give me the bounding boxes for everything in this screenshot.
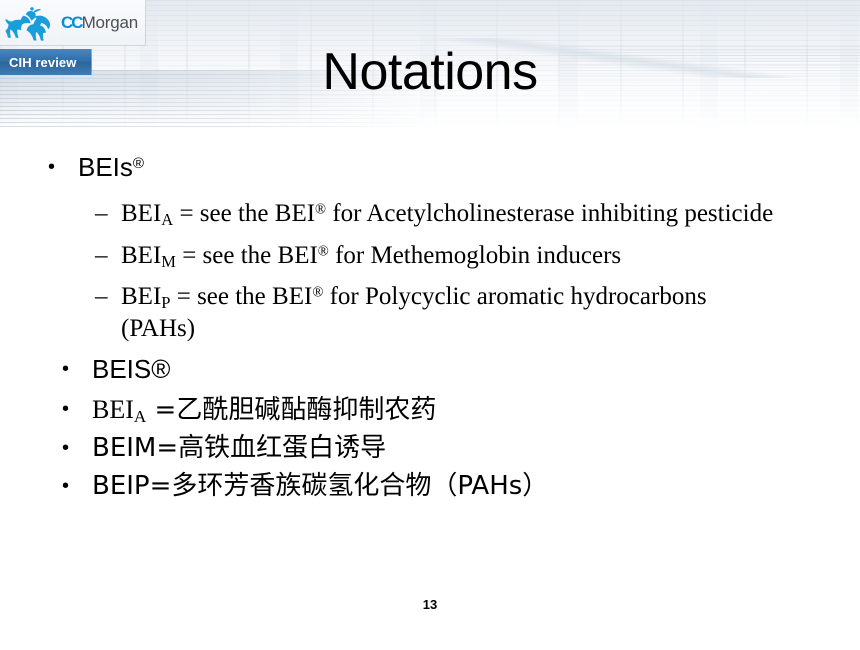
list-item: – BEIM = see the BEI® for Methemoglobin … <box>0 240 860 272</box>
item-prefix: BEI <box>121 200 161 227</box>
list-item-label: BEIA =乙酰胆碱酟酶抑制农药 <box>92 394 860 427</box>
item-mid: = see the BEI <box>173 200 315 227</box>
list-item: • BEIP=多环芳香族碳氢化合物（PAHs） <box>0 471 860 503</box>
list-item-label: BEIM=高铁血红蛋白诱导 <box>92 433 860 465</box>
registered-mark-icon: ® <box>315 201 326 217</box>
registered-mark-icon: ® <box>133 155 144 172</box>
brand-wordmark: CCMorgan <box>61 13 138 33</box>
list-item: – BEIA = see the BEI® for Acetylcholines… <box>0 198 860 230</box>
registered-mark-icon: ® <box>318 243 329 259</box>
bullet-marker: • <box>48 152 78 183</box>
item-mid: = see the BEI <box>170 283 312 310</box>
brand-wordmark-name: Morgan <box>82 13 138 32</box>
brand-wordmark-cc: CC <box>61 13 82 32</box>
item-prefix: BEI <box>92 395 134 424</box>
list-item-label: BEIM = see the BEI® for Methemoglobin in… <box>121 240 860 272</box>
item-mid: = see the BEI <box>176 242 318 269</box>
list-item: • BEIs® <box>0 150 860 184</box>
list-item-label: BEIP = see the BEI® for Polycyclic aroma… <box>121 281 860 345</box>
slide-content: • BEIs® – BEIA = see the BEI® for Acetyl… <box>0 150 860 503</box>
list-item-label: BEIs® <box>78 152 860 184</box>
item-tail: for Acetylcholinesterase inhibiting pest… <box>326 200 773 227</box>
bullet-marker: • <box>62 471 92 502</box>
list-item: • BEIA =乙酰胆碱酟酶抑制农药 <box>0 394 860 427</box>
list-item: • BEIS® <box>0 354 860 386</box>
bullet-marker: • <box>62 433 92 464</box>
bullet-marker: • <box>62 354 92 385</box>
item-tail: =乙酰胆碱酟酶抑制农药 <box>146 395 436 425</box>
list-item: • BEIM=高铁血红蛋白诱导 <box>0 433 860 465</box>
list-item-label: BEIA = see the BEI® for Acetylcholineste… <box>121 198 860 230</box>
registered-mark-icon: ® <box>312 284 323 300</box>
item-subscript: A <box>134 407 146 426</box>
item-subscript: M <box>161 252 176 271</box>
page-number: 13 <box>0 597 860 612</box>
dash-marker: – <box>95 198 121 230</box>
brand-logo: CCMorgan <box>0 0 146 46</box>
list-item-label: BEIP=多环芳香族碳氢化合物（PAHs） <box>92 471 860 503</box>
item-subscript: A <box>161 210 173 229</box>
list-item-label: BEIS® <box>92 354 860 386</box>
dash-marker: – <box>95 281 121 313</box>
dash-marker: – <box>95 240 121 272</box>
bullet-marker: • <box>62 394 92 425</box>
item-prefix: BEI <box>121 283 161 310</box>
list-item: – BEIP = see the BEI® for Polycyclic aro… <box>0 281 860 345</box>
item-text: BEIs <box>78 152 133 182</box>
page-title: Notations <box>0 46 860 98</box>
item-prefix: BEI <box>121 242 161 269</box>
equestrian-horse-logo-icon <box>4 4 60 42</box>
item-tail: for Methemoglobin inducers <box>329 242 621 269</box>
